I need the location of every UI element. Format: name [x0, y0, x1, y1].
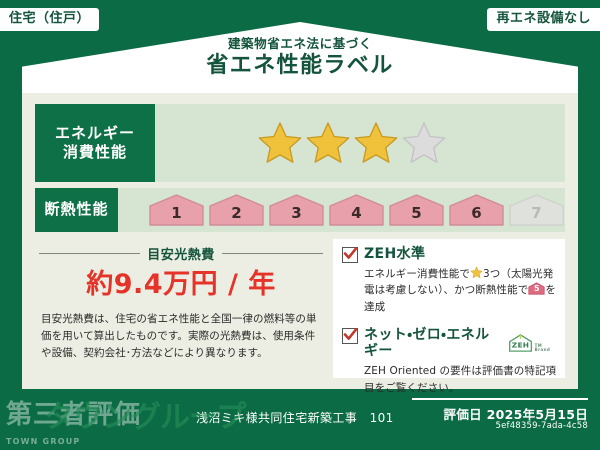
cost-value: 約9.4万円 / 年 — [35, 270, 327, 300]
badge-dwelling-type: 住宅（住戸） — [0, 8, 99, 31]
title-subtitle: 建築物省エネ法に基づく — [0, 36, 600, 51]
net-zero-energy-heading: ネット・ゼロ・エネルギー ZEH TM Brand — [364, 327, 557, 361]
lower-section: 目安光熱費 約9.4万円 / 年 目安光熱費は、住宅の省エネ性能と全国一律の燃料… — [35, 239, 565, 378]
insulation-performance-label: 断熱性能 — [35, 188, 118, 232]
footer-evaluation-id: 5ef48359-7ada-4c58 — [495, 421, 588, 431]
net-zero-energy-item: ネット・ゼロ・エネルギー ZEH TM Brand ZEH Oriented — [342, 327, 557, 397]
checkbox-checked-icon — [342, 247, 358, 263]
insulation-level-number: 7 — [531, 206, 541, 227]
insulation-level-number: 6 — [471, 206, 481, 227]
checkbox-checked-icon — [342, 328, 358, 344]
page-title: 省エネ性能ラベル — [0, 52, 600, 80]
energy-label-line1: エネルギー — [55, 124, 135, 143]
footer-project-name: 浅沼ミキ様共同住宅新築工事 101 — [196, 409, 394, 426]
insulation-rating-value: 1234567 — [118, 188, 565, 232]
insulation-level-1: 1 — [148, 193, 205, 227]
zeh-desc-part1: エネルギー消費性能で — [364, 268, 470, 280]
badge-renewable-equipment: 再エネ設備なし — [487, 8, 600, 31]
label-body-panel: エネルギー 消費性能 断熱性能 1234567 目安光熱費 — [22, 93, 578, 389]
insulation-level-2: 2 — [208, 193, 265, 227]
inline-star-icon — [470, 266, 483, 279]
star-filled-icon — [257, 120, 303, 166]
zeh-standard-description: エネルギー消費性能で3つ（太陽光発電は考慮しない）、かつ断熱性能で5を達成 — [364, 266, 557, 316]
cost-rule-left — [39, 253, 140, 254]
footer-divider — [412, 398, 588, 400]
label-title-block: 建築物省エネ法に基づく 省エネ性能ラベル — [0, 36, 600, 80]
zeh-standard-item: ZEH水準 エネルギー消費性能で3つ（太陽光発電は考慮しない）、かつ断熱性能で5… — [342, 246, 557, 316]
energy-performance-label: 建築物省エネ法に基づく 省エネ性能ラベル 住宅（住戸） 再エネ設備なし エネルギ… — [0, 0, 600, 450]
svg-text:ZEH: ZEH — [511, 341, 529, 350]
insulation-level-number: 2 — [231, 206, 241, 227]
insulation-performance-row: 断熱性能 1234567 — [35, 188, 565, 232]
net-zero-energy-body: ネット・ゼロ・エネルギー ZEH TM Brand ZEH Oriented — [364, 327, 557, 397]
inline-insulation-badge: 5 — [528, 282, 545, 295]
insulation-level-number: 1 — [171, 206, 181, 227]
zeh-logo-icon: ZEH TM Brand — [507, 332, 557, 354]
insulation-level-3: 3 — [268, 193, 325, 227]
star-empty-icon — [401, 120, 447, 166]
insulation-level-5: 5 — [388, 193, 445, 227]
label-footer: 浅沼ミキ様共同住宅新築工事 101 評価日 2025年5月15日 5ef4835… — [0, 392, 600, 450]
energy-performance-label: エネルギー 消費性能 — [35, 104, 155, 182]
insulation-level-6: 6 — [448, 193, 505, 227]
star-rating — [257, 120, 447, 166]
insulation-level-number: 5 — [411, 206, 421, 227]
utility-cost-section: 目安光熱費 約9.4万円 / 年 目安光熱費は、住宅の省エネ性能と全国一律の燃料… — [35, 239, 327, 378]
footer-date-label: 評価日 — [444, 407, 482, 422]
cost-heading: 目安光熱費 — [39, 244, 323, 263]
inline-badge-number: 5 — [528, 282, 545, 295]
cost-title: 目安光熱費 — [147, 244, 215, 263]
insulation-level-7: 7 — [508, 193, 565, 227]
energy-performance-row: エネルギー 消費性能 — [35, 104, 565, 182]
insulation-level-scale: 1234567 — [148, 193, 565, 227]
cost-rule-right — [222, 253, 323, 254]
insulation-level-number: 4 — [351, 206, 361, 227]
energy-label-line2: 消費性能 — [63, 143, 127, 162]
zeh-logo-caption: TM Brand — [535, 344, 557, 355]
cost-disclaimer: 目安光熱費は、住宅の省エネ性能と全国一律の燃料等の単価を用いて算出したものです。… — [41, 311, 321, 362]
insulation-level-number: 3 — [291, 206, 301, 227]
star-filled-icon — [353, 120, 399, 166]
energy-rating-value — [155, 104, 565, 182]
insulation-label-text: 断熱性能 — [44, 200, 108, 219]
star-filled-icon — [305, 120, 351, 166]
insulation-level-4: 4 — [328, 193, 385, 227]
zeh-section: ZEH水準 エネルギー消費性能で3つ（太陽光発電は考慮しない）、かつ断熱性能で5… — [333, 239, 565, 378]
zeh-standard-body: ZEH水準 エネルギー消費性能で3つ（太陽光発電は考慮しない）、かつ断熱性能で5… — [364, 246, 557, 316]
zeh-standard-heading: ZEH水準 — [364, 246, 557, 263]
footer-date-value: 2025年5月15日 — [487, 407, 588, 422]
net-zero-heading-text: ネット・ゼロ・エネルギー — [364, 327, 504, 361]
